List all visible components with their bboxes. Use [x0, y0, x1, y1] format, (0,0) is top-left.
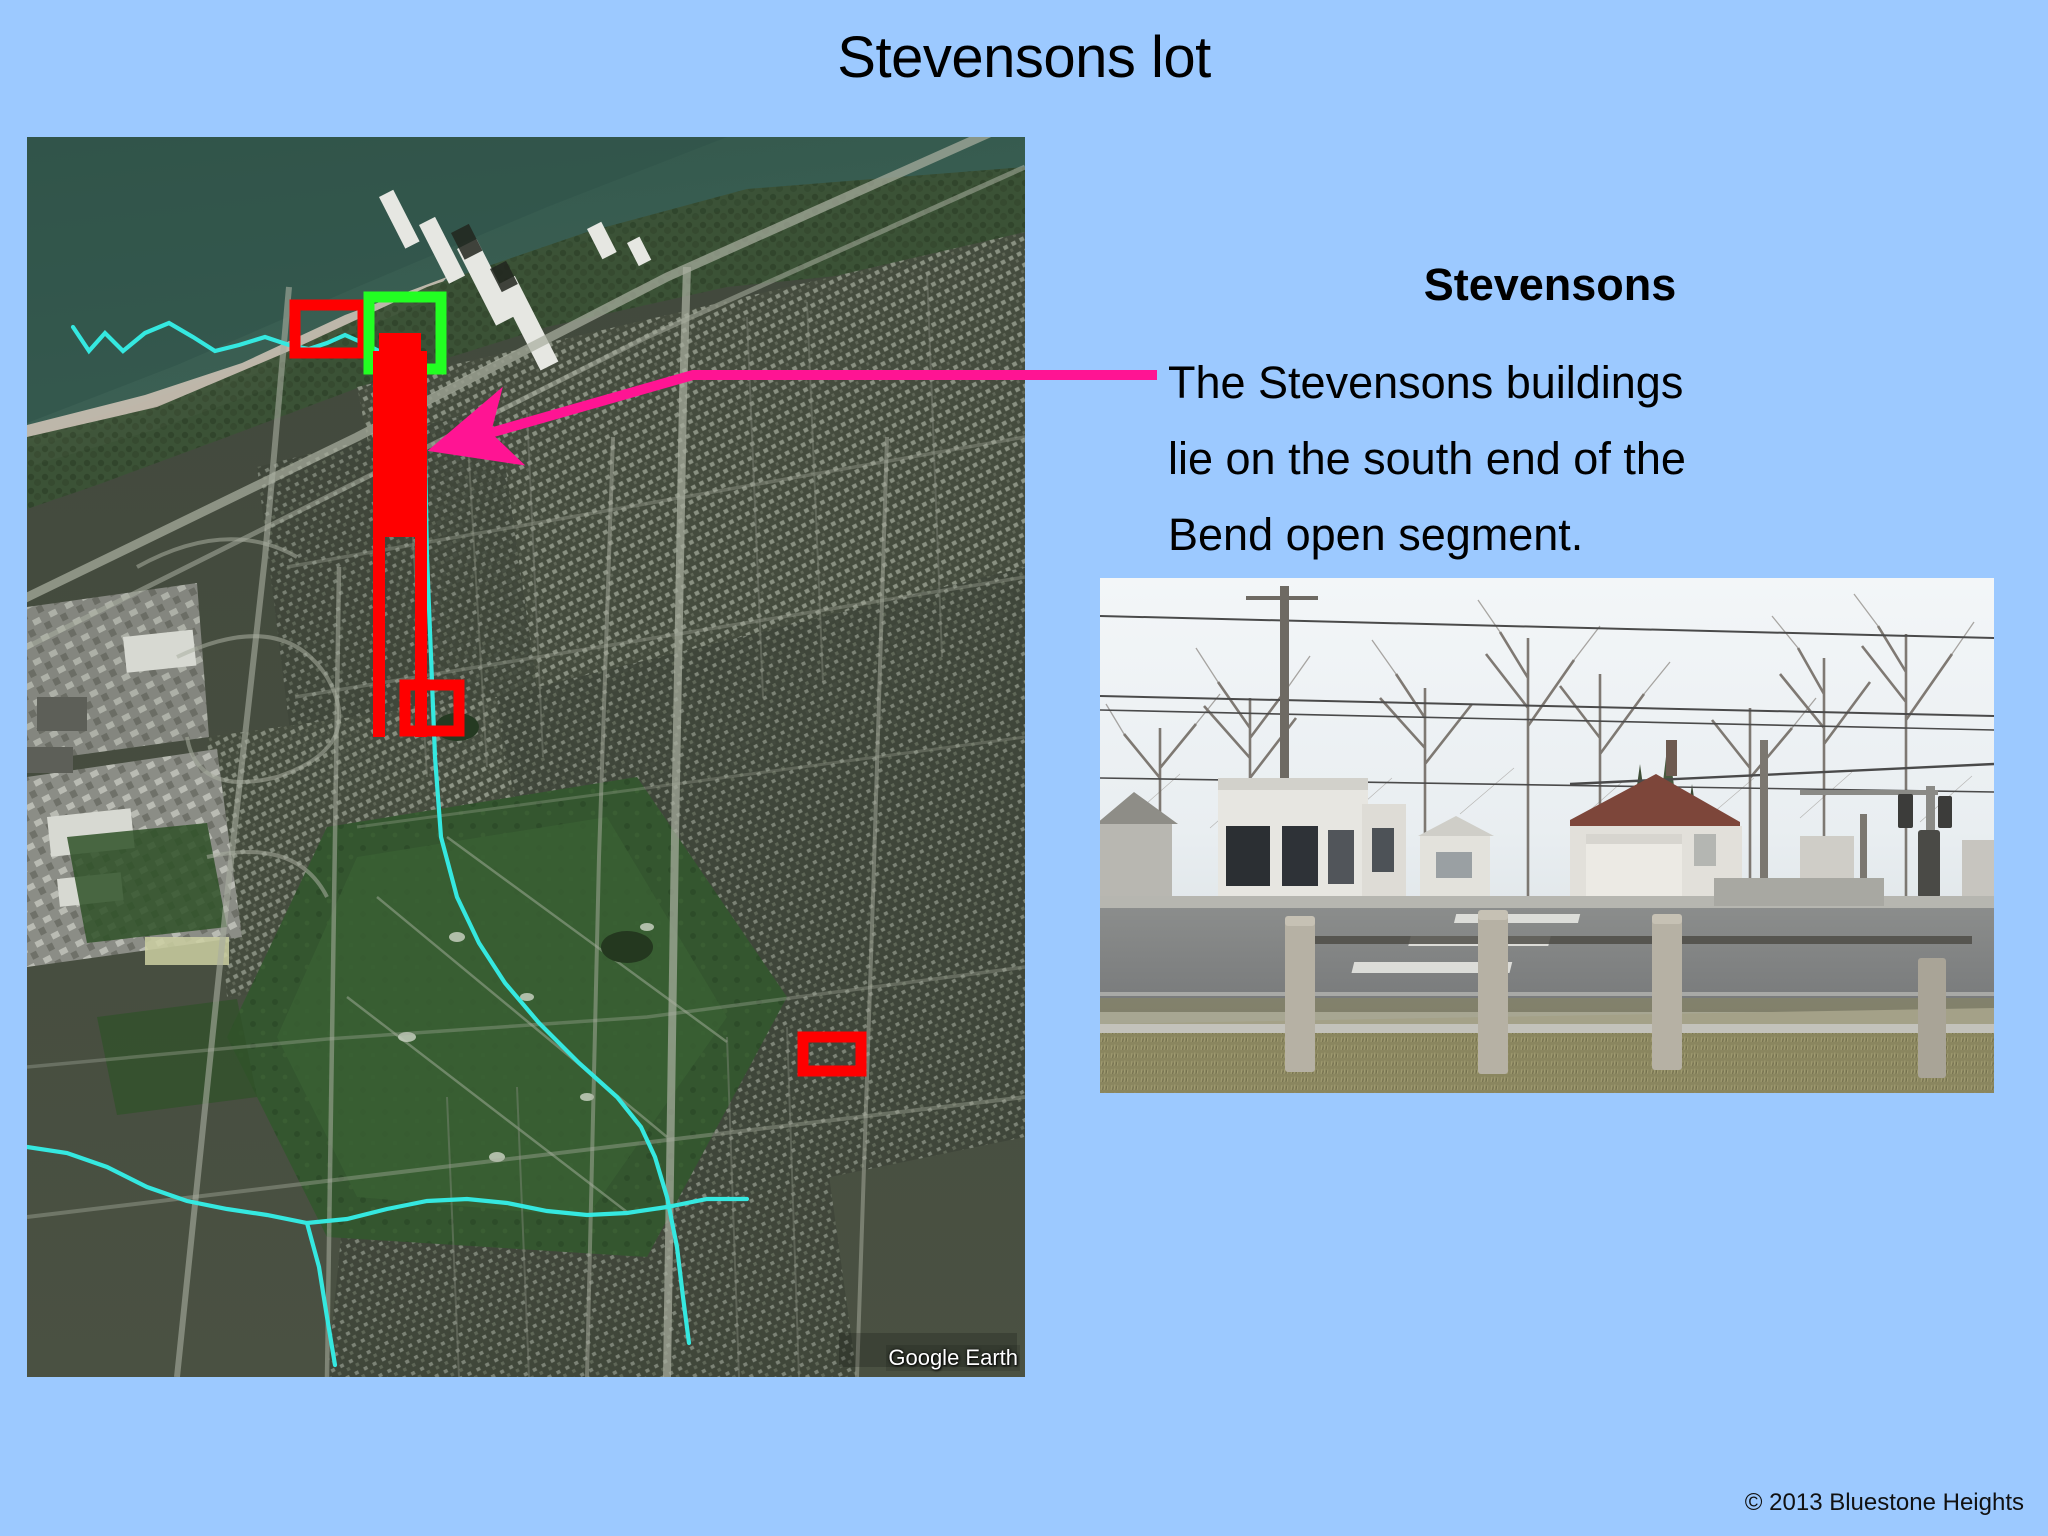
annotation-corridor-solid — [379, 351, 421, 537]
foreground-grass — [1100, 1033, 1994, 1093]
far-left-house — [1100, 822, 1172, 904]
satellite-map-image: Google Earth — [27, 137, 1025, 1377]
leader-line-extension — [1025, 137, 1185, 537]
copyright-notice: © 2013 Bluestone Heights — [1745, 1488, 2024, 1518]
pond-2 — [601, 931, 653, 963]
caption-line-2: lie on the south end of the — [1168, 421, 1988, 497]
street-photo-image — [1100, 578, 1994, 1093]
caption-line-3: Bend open segment. — [1168, 497, 1988, 573]
caption-line-1: The Stevensons buildings — [1168, 345, 1988, 421]
caption-body: The Stevensons buildings lie on the sout… — [1168, 345, 1988, 573]
utility-pole-right — [1760, 740, 1768, 898]
slide-canvas: Stevensons lot — [0, 0, 2048, 1536]
white-garage — [1586, 834, 1682, 906]
map-graphic — [27, 137, 1025, 1377]
caption-heading: Stevensons — [1100, 258, 2000, 312]
page-title: Stevensons lot — [0, 22, 2048, 94]
road-surface — [1100, 908, 1994, 1012]
google-earth-watermark: Google Earth — [886, 1345, 1020, 1371]
street-photo-graphic — [1100, 578, 1994, 1093]
